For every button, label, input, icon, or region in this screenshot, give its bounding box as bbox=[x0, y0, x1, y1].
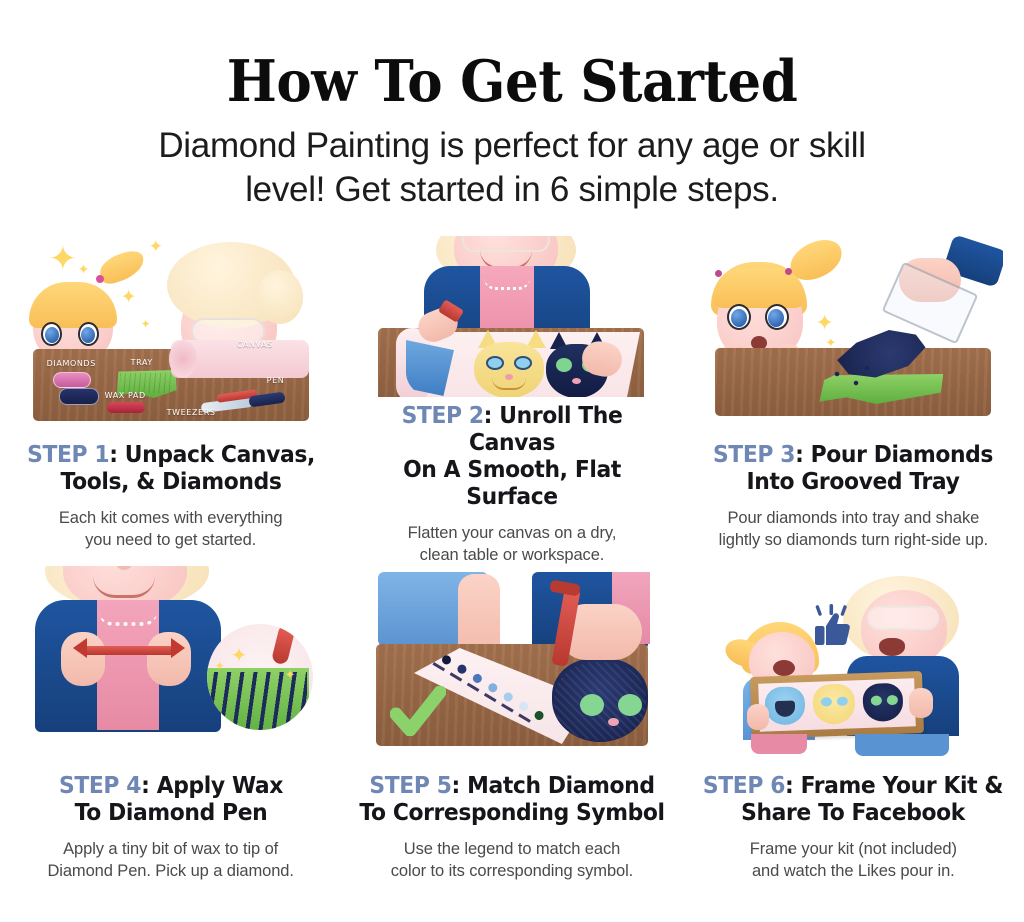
step-3-caption-line-1: Pour diamonds into tray and shake bbox=[693, 507, 1013, 529]
sparkle-icon: ✦ bbox=[49, 242, 78, 276]
legend-dot bbox=[517, 700, 529, 712]
step-4-label: STEP 4 bbox=[59, 773, 141, 799]
step-4-caption: Apply a tiny bit of wax to tip of Diamon… bbox=[11, 838, 331, 882]
grandma-pants bbox=[855, 734, 949, 756]
girl-hair bbox=[29, 282, 117, 328]
step-2-caption-line-1: Flatten your canvas on a dry, bbox=[352, 522, 672, 544]
girl-iris-right bbox=[81, 327, 95, 343]
legend-dot bbox=[471, 672, 483, 684]
sparkle-icon: ✦ bbox=[231, 646, 248, 666]
girl-iris-left bbox=[45, 327, 59, 343]
step-5-illustration bbox=[362, 566, 662, 771]
grandma-hair-puff bbox=[257, 270, 303, 324]
step-card-1: ✦ ✦ ✦ ✦ ✦ bbox=[0, 236, 341, 566]
sparkle-icon: ✦ bbox=[149, 238, 163, 255]
steps-grid: ✦ ✦ ✦ ✦ ✦ bbox=[0, 236, 1024, 898]
cat-navy-art bbox=[863, 683, 904, 722]
infographic-page: How To Get Started Diamond Painting is p… bbox=[0, 0, 1024, 922]
cat-navy-eye-left bbox=[580, 694, 604, 716]
frame-inner-canvas bbox=[759, 678, 917, 731]
art-label-waxpad: WAX PAD bbox=[105, 391, 146, 400]
art-label-tweezers: TWEEZERS bbox=[167, 408, 216, 417]
step-3-label: STEP 3 bbox=[713, 442, 795, 468]
step-1-title-line-2: Tools, & Diamonds bbox=[14, 469, 328, 496]
sparkle-icon: ✦ bbox=[285, 668, 296, 681]
subtitle-line-2: level! Get started in 6 simple steps. bbox=[70, 168, 954, 212]
step-5-caption-line-1: Use the legend to match each bbox=[352, 838, 672, 860]
header: How To Get Started Diamond Painting is p… bbox=[0, 0, 1024, 212]
art-label-tray: TRAY bbox=[131, 358, 153, 367]
step-2-label: STEP 2 bbox=[402, 403, 484, 429]
pen-tip-right bbox=[171, 638, 185, 658]
step-6-title-rest: Frame Your Kit & bbox=[794, 773, 1004, 799]
cat-yellow-eye-right bbox=[514, 356, 532, 370]
step-3-title-line-2: Into Grooved Tray bbox=[697, 469, 1011, 496]
step-1-title-rest: Unpack Canvas, bbox=[117, 442, 314, 468]
diamond-bag-navy bbox=[59, 388, 99, 405]
step-3-illustration: ✦ ✦ bbox=[703, 236, 1003, 436]
cat-navy-eye-left bbox=[556, 358, 572, 372]
cat-navy-nose bbox=[608, 718, 619, 726]
step-2-title-line-2: On A Smooth, Flat Surface bbox=[355, 457, 669, 511]
grandma-glasses bbox=[867, 606, 939, 630]
diamond-pen bbox=[83, 646, 175, 655]
step-2-title-rest: Unroll The Canvas bbox=[469, 403, 622, 456]
step-6-title-line-2: Share To Facebook bbox=[697, 800, 1011, 827]
cat-navy-nose bbox=[572, 378, 581, 384]
step-5-title: STEP 5: Match Diamond To Corresponding S… bbox=[355, 773, 669, 827]
legend-dot bbox=[456, 663, 468, 675]
step-1-caption-line-2: you need to get started. bbox=[11, 529, 331, 551]
step-6-caption: Frame your kit (not included) and watch … bbox=[693, 838, 1013, 882]
legend-dot bbox=[533, 709, 545, 721]
step-card-6: STEP 6: Frame Your Kit & Share To Facebo… bbox=[683, 566, 1024, 898]
hair-tie bbox=[96, 275, 104, 283]
magnifier-inset: ✦ ✦ ✦ bbox=[207, 624, 313, 730]
step-5-title-rest: Match Diamond bbox=[460, 773, 655, 799]
subtitle-line-1: Diamond Painting is perfect for any age … bbox=[70, 124, 954, 168]
step-4-title: STEP 4: Apply Wax To Diamond Pen bbox=[14, 773, 328, 827]
grandma-hand bbox=[909, 688, 933, 718]
step-3-caption-line-2: lightly so diamonds turn right-side up. bbox=[693, 529, 1013, 551]
girl-hand bbox=[747, 704, 769, 730]
tray-grooves bbox=[120, 373, 174, 393]
checkmark-icon bbox=[390, 686, 446, 736]
step-6-title: STEP 6: Frame Your Kit & Share To Facebo… bbox=[697, 773, 1011, 827]
page-subtitle: Diamond Painting is perfect for any age … bbox=[0, 124, 1024, 212]
step-6-caption-line-2: and watch the Likes pour in. bbox=[693, 860, 1013, 882]
step-card-5: STEP 5: Match Diamond To Corresponding S… bbox=[341, 566, 682, 898]
page-title: How To Get Started bbox=[36, 52, 988, 112]
facebook-thumbs-up-icon bbox=[811, 604, 853, 646]
art-label-diamonds: DIAMONDS bbox=[47, 359, 96, 368]
step-1-label: STEP 1 bbox=[27, 442, 109, 468]
step-1-separator: : bbox=[109, 442, 117, 468]
cat-yellow-eye-left bbox=[486, 356, 504, 370]
step-card-4: ✦ ✦ ✦ STEP 4: Apply Wax To Diamond Pen A… bbox=[0, 566, 341, 898]
step-6-label: STEP 6 bbox=[703, 773, 785, 799]
sparkle-icon: ✦ bbox=[215, 660, 225, 672]
step-5-caption-line-2: color to its corresponding symbol. bbox=[352, 860, 672, 882]
step-1-title: STEP 1: Unpack Canvas, Tools, & Diamonds bbox=[14, 442, 328, 496]
step-4-caption-line-1: Apply a tiny bit of wax to tip of bbox=[11, 838, 331, 860]
girl-bangs bbox=[713, 268, 805, 308]
woman-necklace bbox=[99, 612, 157, 626]
wax-pad bbox=[107, 402, 145, 413]
step-card-2: STEP 2: Unroll The Canvas On A Smooth, F… bbox=[341, 236, 682, 566]
girl-skirt bbox=[751, 734, 807, 754]
sparkle-icon: ✦ bbox=[141, 318, 151, 330]
step-5-separator: : bbox=[452, 773, 460, 799]
sparkle-icon: ✦ bbox=[815, 312, 833, 334]
step-6-caption-line-1: Frame your kit (not included) bbox=[693, 838, 1013, 860]
woman-necklace bbox=[484, 278, 530, 290]
cat-yellow-art bbox=[813, 683, 856, 724]
diamond-bag-pink bbox=[53, 372, 91, 388]
pen-tip-left bbox=[73, 638, 87, 658]
step-4-title-rest: Apply Wax bbox=[149, 773, 283, 799]
step-1-caption: Each kit comes with everything you need … bbox=[11, 507, 331, 551]
step-4-illustration: ✦ ✦ ✦ bbox=[21, 566, 321, 771]
legend-dot bbox=[502, 691, 514, 703]
step-6-illustration bbox=[703, 566, 1003, 771]
step-4-caption-line-2: Diamond Pen. Pick up a diamond. bbox=[11, 860, 331, 882]
picture-frame bbox=[750, 671, 924, 739]
art-label-canvas: CANVAS bbox=[237, 340, 273, 349]
art-label-pen: PEN bbox=[267, 376, 285, 385]
step-2-title: STEP 2: Unroll The Canvas On A Smooth, F… bbox=[355, 403, 669, 511]
step-2-caption-line-2: clean table or workspace. bbox=[352, 544, 672, 566]
sparkle-icon: ✦ bbox=[78, 262, 90, 276]
step-2-illustration bbox=[362, 236, 662, 397]
step-2-caption: Flatten your canvas on a dry, clean tabl… bbox=[352, 522, 672, 566]
step-3-caption: Pour diamonds into tray and shake lightl… bbox=[693, 507, 1013, 551]
canvas-roll-end bbox=[169, 340, 197, 378]
step-card-3: ✦ ✦ STEP 3: bbox=[683, 236, 1024, 566]
legend-dot bbox=[487, 682, 499, 694]
step-2-separator: : bbox=[484, 403, 492, 429]
diamond-specks bbox=[827, 362, 877, 392]
step-4-separator: : bbox=[141, 773, 149, 799]
step-1-caption-line-1: Each kit comes with everything bbox=[11, 507, 331, 529]
step-5-label: STEP 5 bbox=[369, 773, 451, 799]
step-3-title: STEP 3: Pour Diamonds Into Grooved Tray bbox=[697, 442, 1011, 496]
step-5-caption: Use the legend to match each color to it… bbox=[352, 838, 672, 882]
pen-tip-zoom bbox=[271, 627, 295, 666]
step-1-illustration: ✦ ✦ ✦ ✦ ✦ bbox=[21, 236, 321, 436]
sparkle-icon: ✦ bbox=[121, 288, 137, 307]
step-3-title-rest: Pour Diamonds bbox=[804, 442, 994, 468]
step-4-title-line-2: To Diamond Pen bbox=[14, 800, 328, 827]
cat-navy-eye-right bbox=[618, 694, 642, 716]
step-5-title-line-2: To Corresponding Symbol bbox=[355, 800, 669, 827]
